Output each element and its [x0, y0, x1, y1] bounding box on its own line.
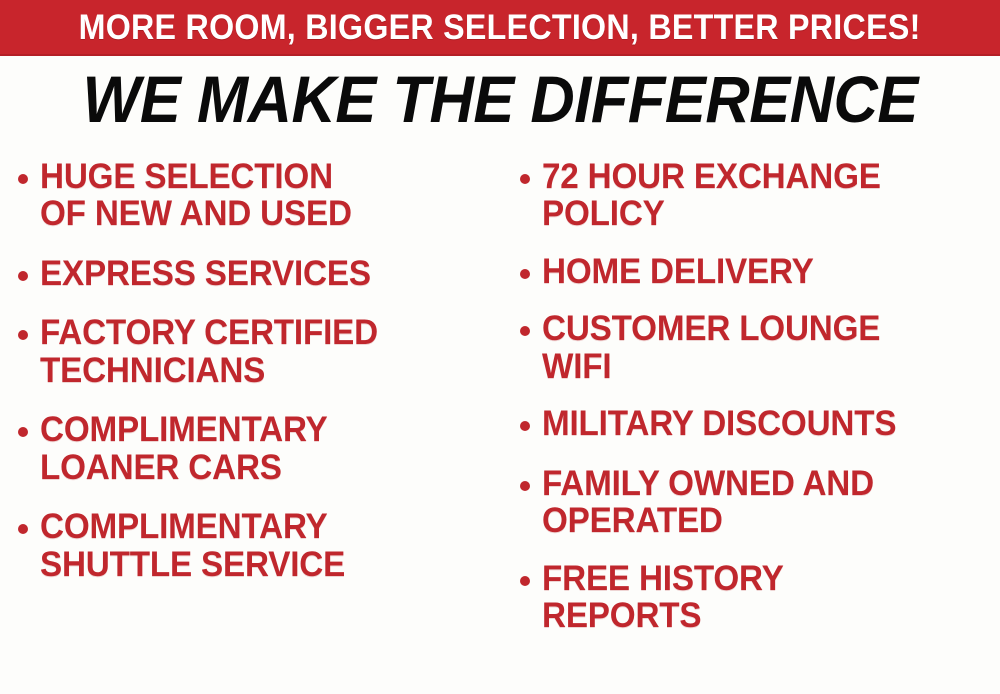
- promo-banner: MORE ROOM, BIGGER SELECTION, BETTER PRIC…: [0, 0, 1000, 56]
- headline-text: WE MAKE THE DIFFERENCE: [82, 66, 917, 133]
- list-item-label: COMPLIMENTARY SHUTTLE SERVICE: [40, 508, 471, 583]
- bullet-dot-icon: [520, 576, 530, 586]
- list-item: COMPLIMENTARY SHUTTLE SERVICE: [18, 508, 494, 583]
- bullet-dot-icon: [18, 524, 28, 534]
- bullet-dot-icon: [18, 330, 28, 340]
- list-item: HUGE SELECTION OF NEW AND USED: [18, 158, 494, 233]
- benefits-column-left: HUGE SELECTION OF NEW AND USED EXPRESS S…: [0, 158, 500, 609]
- list-item: FACTORY CERTIFIED TECHNICIANS: [18, 314, 494, 389]
- bullet-dot-icon: [520, 421, 530, 431]
- list-item-label: FREE HISTORY REPORTS: [542, 560, 975, 635]
- list-item-label: FACTORY CERTIFIED TECHNICIANS: [40, 314, 471, 389]
- bullet-dot-icon: [18, 174, 28, 184]
- benefits-columns: HUGE SELECTION OF NEW AND USED EXPRESS S…: [0, 158, 1000, 688]
- list-item: EXPRESS SERVICES: [18, 255, 494, 292]
- list-item-label: FAMILY OWNED AND OPERATED: [542, 465, 975, 540]
- list-item: CUSTOMER LOUNGE WIFI: [520, 310, 998, 385]
- list-item-label: 72 HOUR EXCHANGE POLICY: [542, 158, 975, 233]
- bullet-dot-icon: [520, 269, 530, 279]
- bullet-dot-icon: [520, 481, 530, 491]
- bullet-dot-icon: [18, 427, 28, 437]
- list-item-label: HUGE SELECTION OF NEW AND USED: [40, 158, 471, 233]
- headline: WE MAKE THE DIFFERENCE: [0, 66, 1000, 133]
- bullet-dot-icon: [520, 326, 530, 336]
- list-item: HOME DELIVERY: [520, 253, 998, 290]
- list-item: FREE HISTORY REPORTS: [520, 560, 998, 635]
- list-item-label: HOME DELIVERY: [542, 253, 975, 290]
- list-item: FAMILY OWNED AND OPERATED: [520, 465, 998, 540]
- list-item: MILITARY DISCOUNTS: [520, 405, 998, 442]
- list-item: 72 HOUR EXCHANGE POLICY: [520, 158, 998, 233]
- benefits-column-right: 72 HOUR EXCHANGE POLICY HOME DELIVERY CU…: [500, 158, 1000, 654]
- list-item-label: EXPRESS SERVICES: [40, 255, 471, 292]
- list-item-label: MILITARY DISCOUNTS: [542, 405, 975, 442]
- bullet-dot-icon: [18, 271, 28, 281]
- bullet-dot-icon: [520, 174, 530, 184]
- list-item: COMPLIMENTARY LOANER CARS: [18, 411, 494, 486]
- promo-banner-text: MORE ROOM, BIGGER SELECTION, BETTER PRIC…: [79, 10, 921, 45]
- list-item-label: COMPLIMENTARY LOANER CARS: [40, 411, 471, 486]
- list-item-label: CUSTOMER LOUNGE WIFI: [542, 310, 975, 385]
